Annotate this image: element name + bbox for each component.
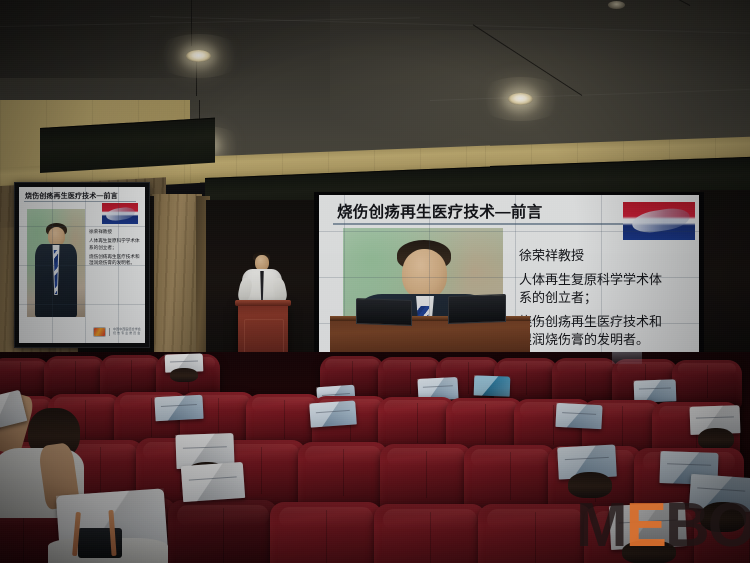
slide-body-line: 湿润烧伤膏的发明者。 bbox=[519, 331, 662, 349]
seat bbox=[380, 444, 472, 512]
footer-divider bbox=[109, 328, 110, 336]
watermark-letter: M bbox=[576, 495, 626, 557]
watermark: M E B O bbox=[576, 495, 750, 557]
slide-title-rule bbox=[24, 201, 136, 202]
slide-body-line: 湿润烧伤膏的发明者。 bbox=[89, 260, 140, 266]
aisle-light bbox=[612, 352, 642, 364]
slide-body-line: 系的创立者； bbox=[519, 289, 662, 307]
slide-body-line: 烧伤创疡再生医疗技术和 bbox=[519, 313, 662, 331]
footer-org-line: 烧 伤 专 业 委 员 会 bbox=[113, 332, 141, 336]
slide-title: 烧伤创疡再生医疗技术—前言 bbox=[337, 200, 543, 222]
nurse-cap bbox=[154, 395, 203, 421]
laptop bbox=[356, 298, 412, 326]
nurse-cap bbox=[474, 375, 511, 396]
watermark-letter: O bbox=[708, 495, 750, 557]
audience-head bbox=[170, 368, 198, 382]
seat bbox=[672, 360, 742, 408]
nurse-cap bbox=[555, 403, 602, 429]
nurse-cap bbox=[181, 462, 245, 502]
seat bbox=[168, 500, 278, 563]
secondary-display-bezel: 烧伤创疡再生医疗技术—前言 徐荣祥教授 人体再生复原科学学术体 bbox=[14, 182, 150, 348]
slide-body-text: 徐荣祥教授 人体再生复原科学学术体 系的创立者； 烧伤创疡再生医疗技术和 湿润烧… bbox=[519, 247, 662, 349]
audience-head bbox=[698, 428, 734, 450]
ceiling-spotlight bbox=[608, 1, 625, 9]
nurse-cap bbox=[309, 400, 357, 427]
watermark-letter: E bbox=[626, 495, 665, 557]
slide-secondary: 烧伤创疡再生医疗技术—前言 徐荣祥教授 人体再生复原科学学术体 bbox=[19, 187, 145, 343]
watermark-letter: B bbox=[665, 495, 708, 557]
seat bbox=[552, 358, 618, 405]
seat bbox=[374, 504, 486, 563]
slide-banner-image bbox=[623, 202, 695, 240]
footer-org-text: 中国中西医结合学会 烧 伤 专 业 委 员 会 bbox=[113, 328, 141, 336]
slide-title: 烧伤创疡再生医疗技术—前言 bbox=[25, 191, 118, 201]
slide-body-line: 人体再生复原科学学术体 bbox=[519, 271, 662, 289]
seat bbox=[478, 504, 592, 563]
seat bbox=[270, 502, 382, 563]
slide-banner-image bbox=[102, 203, 138, 224]
slide-body-text: 徐荣祥教授 人体再生复原科学学术体 系的创立者； 烧伤创疡再生医疗技术和 湿润烧… bbox=[89, 229, 140, 267]
slide-body-line: 徐荣祥教授 bbox=[519, 247, 662, 265]
seat bbox=[298, 442, 388, 510]
slide-body-line: 人体再生复原科学学术体 bbox=[89, 238, 140, 244]
slide-portrait-photo bbox=[27, 209, 85, 317]
photo-scene: 烧伤创疡再生医疗技术—前言 徐荣祥教授 人体再生复原科学学术体 bbox=[0, 0, 750, 563]
laptop bbox=[448, 294, 506, 324]
association-logo-icon bbox=[93, 327, 106, 337]
slide-footer: 中国中西医结合学会 烧 伤 专 业 委 员 会 bbox=[93, 327, 141, 337]
ceiling-light bbox=[186, 50, 211, 62]
ceiling-light bbox=[508, 93, 533, 105]
wood-panel bbox=[150, 194, 202, 376]
